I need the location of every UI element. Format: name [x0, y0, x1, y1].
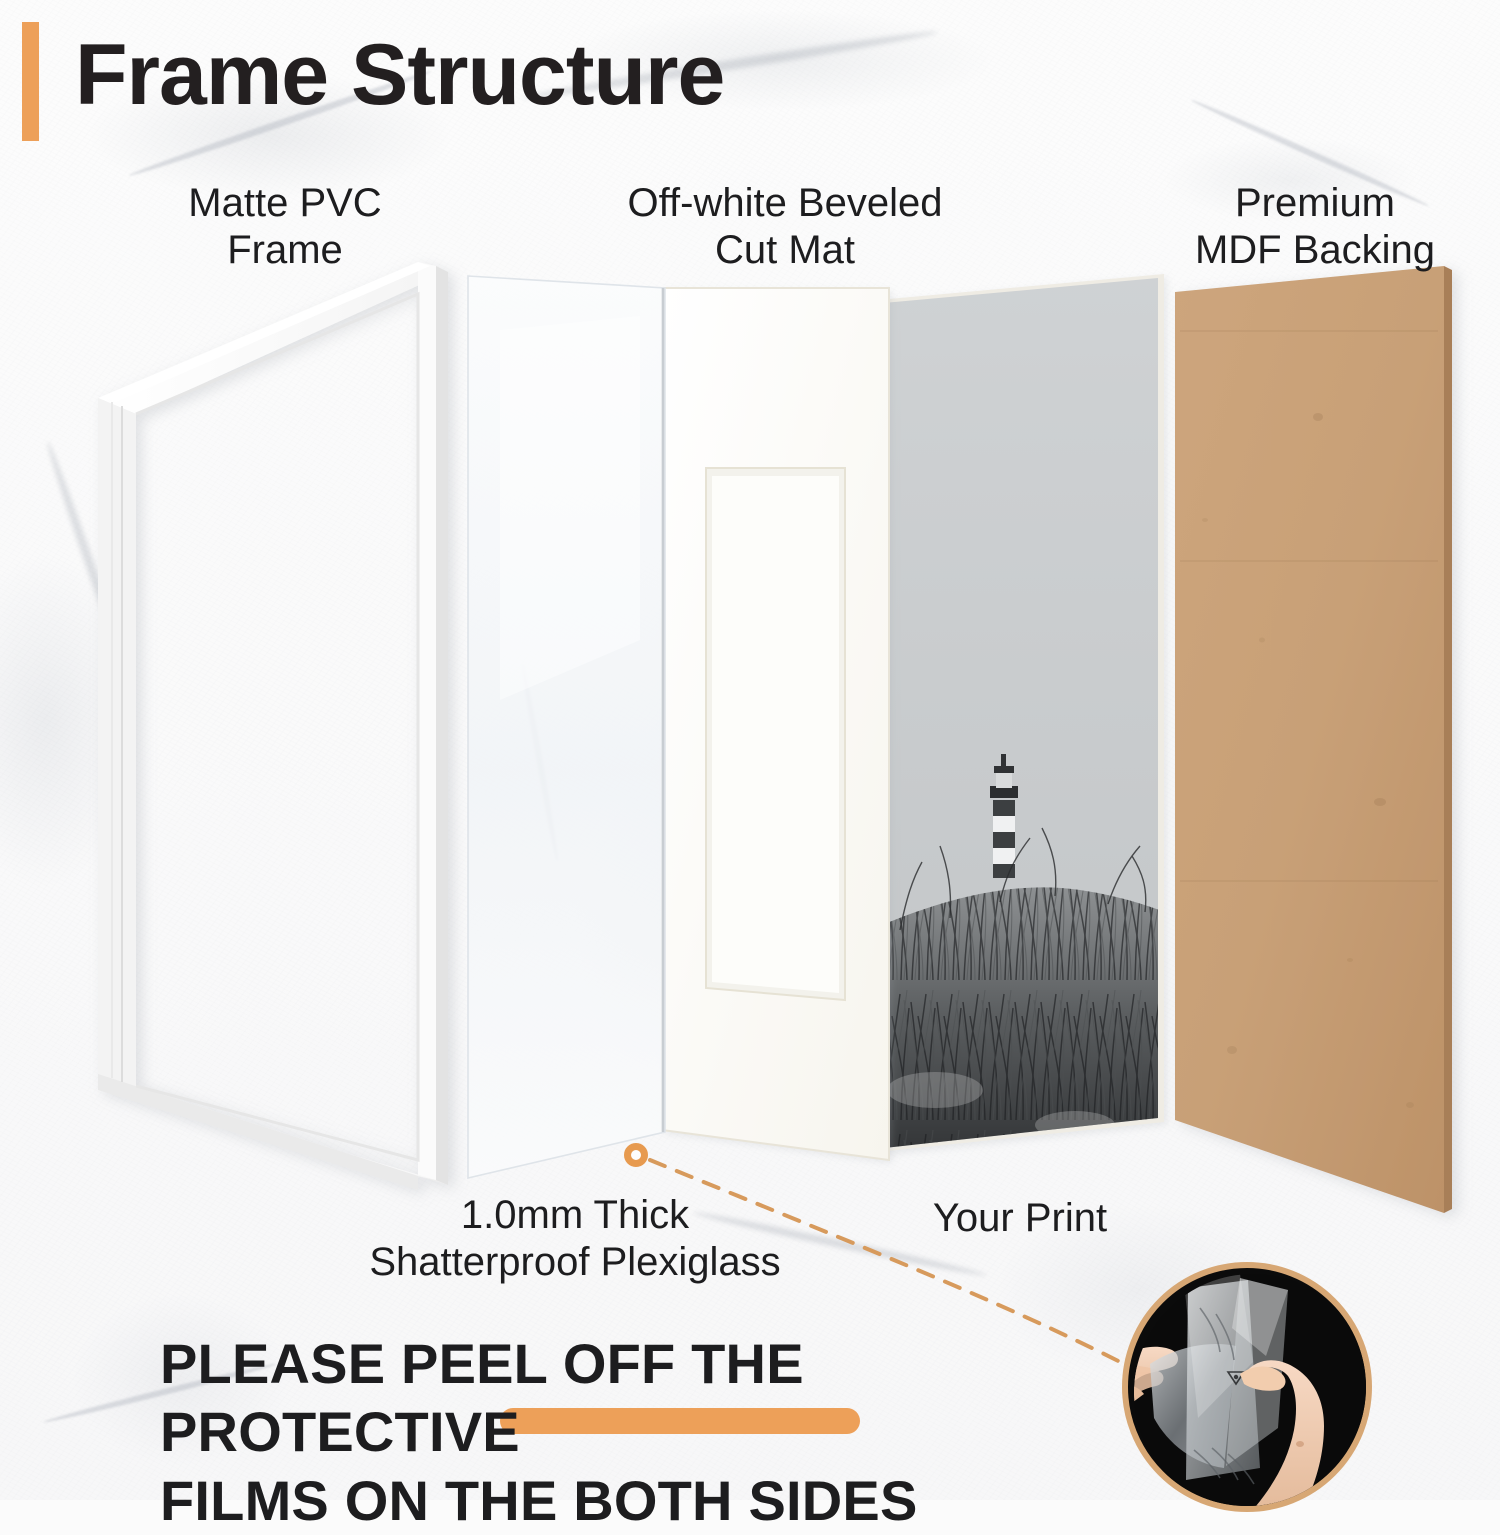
peel-notice-line1: PLEASE PEEL OFF THE PROTECTIVE — [160, 1330, 1060, 1467]
peel-notice: PLEASE PEEL OFF THE PROTECTIVE FILMS ON … — [160, 1330, 1060, 1535]
layer-photo-print — [870, 265, 1175, 1170]
layer-mdf-backing — [1175, 266, 1452, 1213]
layer-pvc-frame — [98, 262, 448, 1190]
label-plexiglass: 1.0mm Thick Shatterproof Plexiglass — [250, 1192, 900, 1286]
label-cut-mat: Off-white Beveled Cut Mat — [570, 180, 1000, 274]
label-matte-pvc-frame: Matte PVC Frame — [120, 180, 450, 274]
peel-notice-line2: FILMS ON THE BOTH SIDES — [160, 1467, 1060, 1535]
peel-notice-both-sides: BOTH SIDES — [573, 1469, 917, 1532]
lighthouse — [990, 754, 1018, 878]
layer-plexiglass — [468, 276, 665, 1178]
layer-cut-mat — [662, 288, 889, 1160]
label-mdf-backing: Premium MDF Backing — [1130, 180, 1500, 274]
peel-film-inset-photo — [1122, 1262, 1372, 1512]
plexiglass-marker-dot — [624, 1143, 648, 1167]
label-your-print: Your Print — [870, 1195, 1170, 1242]
peel-notice-line2-pre: FILMS ON THE — [160, 1469, 573, 1532]
